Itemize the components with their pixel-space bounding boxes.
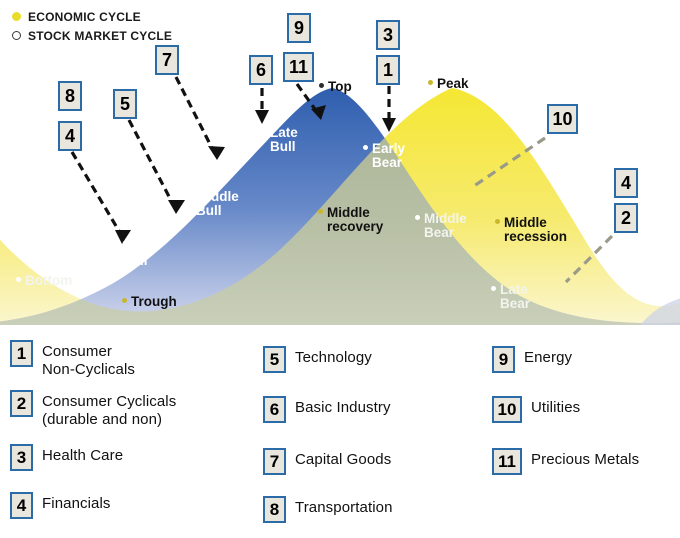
legend-badge-3: 3: [10, 444, 33, 471]
legend-item-label: Health Care: [42, 444, 123, 465]
legend-item-label: Energy: [524, 346, 572, 367]
phase-label: Middle Bear: [424, 212, 467, 240]
phase-dot-icon: [363, 145, 368, 150]
legend-item-7[interactable]: 7Capital Goods: [263, 448, 391, 475]
legend-badge-11: 11: [492, 448, 522, 475]
stock-market-cycle-dot-icon: [12, 31, 21, 40]
legend-badge-10: 10: [492, 396, 522, 423]
legend-item-label: Utilities: [531, 396, 580, 417]
phase-dot-icon: [428, 80, 433, 85]
legend-badge-4: 4: [10, 492, 33, 519]
legend-item-label: Consumer Cyclicals (durable and non): [42, 390, 176, 429]
phase-label: Middle Bull: [196, 190, 239, 218]
legend-item-label: Technology: [295, 346, 372, 367]
phase-dot-icon: [495, 219, 500, 224]
legend-item-4[interactable]: 4Financials: [10, 492, 111, 519]
cycle-chart: ECONOMIC CYCLE STOCK MARKET CYCLE Bottom…: [0, 0, 680, 325]
phase-label: Middle recession: [504, 216, 567, 244]
cycle-legend-label: STOCK MARKET CYCLE: [28, 29, 172, 43]
legend-badge-5: 5: [263, 346, 286, 373]
legend-item-label: Basic Industry: [295, 396, 391, 417]
legend-item-9[interactable]: 9Energy: [492, 346, 572, 373]
chart-marker-11[interactable]: 11: [283, 52, 314, 82]
phase-dot-icon: [122, 298, 127, 303]
phase-label: Late Bear: [500, 283, 530, 311]
legend-badge-6: 6: [263, 396, 286, 423]
legend-item-label: Transportation: [295, 496, 393, 517]
phase-label: Bottom: [25, 274, 72, 288]
economic-cycle-dot-icon: [12, 12, 21, 21]
cycle-legend-item-stock: STOCK MARKET CYCLE: [12, 26, 172, 45]
legend-item-11[interactable]: 11Precious Metals: [492, 448, 639, 475]
legend-badge-9: 9: [492, 346, 515, 373]
phase-dot-icon: [319, 83, 324, 88]
phase-dot-icon: [261, 129, 266, 134]
chart-marker-4[interactable]: 4: [58, 121, 82, 151]
sector-legend: 1Consumer Non-Cyclicals2Consumer Cyclica…: [0, 332, 680, 538]
chart-marker-4[interactable]: 4: [614, 168, 638, 198]
phase-label: Trough: [131, 295, 177, 309]
legend-badge-2: 2: [10, 390, 33, 417]
phase-dot-icon: [415, 215, 420, 220]
cycle-legend: ECONOMIC CYCLE STOCK MARKET CYCLE: [12, 7, 172, 45]
phase-dot-icon: [318, 209, 323, 214]
cycle-legend-label: ECONOMIC CYCLE: [28, 10, 141, 24]
phase-label: Early Bull: [122, 240, 155, 268]
legend-item-label: Precious Metals: [531, 448, 639, 469]
legend-item-label: Consumer Non-Cyclicals: [42, 340, 135, 379]
chart-marker-3[interactable]: 3: [376, 20, 400, 50]
phase-label: Middle recovery: [327, 206, 383, 234]
chart-marker-7[interactable]: 7: [155, 45, 179, 75]
phase-dot-icon: [187, 193, 192, 198]
phase-dot-icon: [113, 243, 118, 248]
phase-label: Top: [328, 80, 352, 94]
legend-item-1[interactable]: 1Consumer Non-Cyclicals: [10, 340, 135, 379]
legend-badge-7: 7: [263, 448, 286, 475]
legend-badge-1: 1: [10, 340, 33, 367]
legend-item-3[interactable]: 3Health Care: [10, 444, 123, 471]
legend-item-10[interactable]: 10Utilities: [492, 396, 580, 423]
chart-marker-1[interactable]: 1: [376, 55, 400, 85]
phase-label: Early Bear: [372, 142, 405, 170]
cycle-chart-canvas: [0, 0, 680, 325]
chart-marker-9[interactable]: 9: [287, 13, 311, 43]
phase-label: Late Bull: [270, 126, 298, 154]
chart-marker-8[interactable]: 8: [58, 81, 82, 111]
legend-item-5[interactable]: 5Technology: [263, 346, 372, 373]
chart-marker-2[interactable]: 2: [614, 203, 638, 233]
legend-item-label: Financials: [42, 492, 111, 513]
legend-item-label: Capital Goods: [295, 448, 391, 469]
cycle-legend-item-economic: ECONOMIC CYCLE: [12, 7, 172, 26]
phase-label: Peak: [437, 77, 469, 91]
chart-marker-6[interactable]: 6: [249, 55, 273, 85]
chart-marker-5[interactable]: 5: [113, 89, 137, 119]
legend-item-6[interactable]: 6Basic Industry: [263, 396, 391, 423]
legend-badge-8: 8: [263, 496, 286, 523]
legend-item-2[interactable]: 2Consumer Cyclicals (durable and non): [10, 390, 176, 429]
phase-dot-icon: [16, 277, 21, 282]
phase-dot-icon: [491, 286, 496, 291]
legend-item-8[interactable]: 8Transportation: [263, 496, 393, 523]
chart-marker-10[interactable]: 10: [547, 104, 578, 134]
